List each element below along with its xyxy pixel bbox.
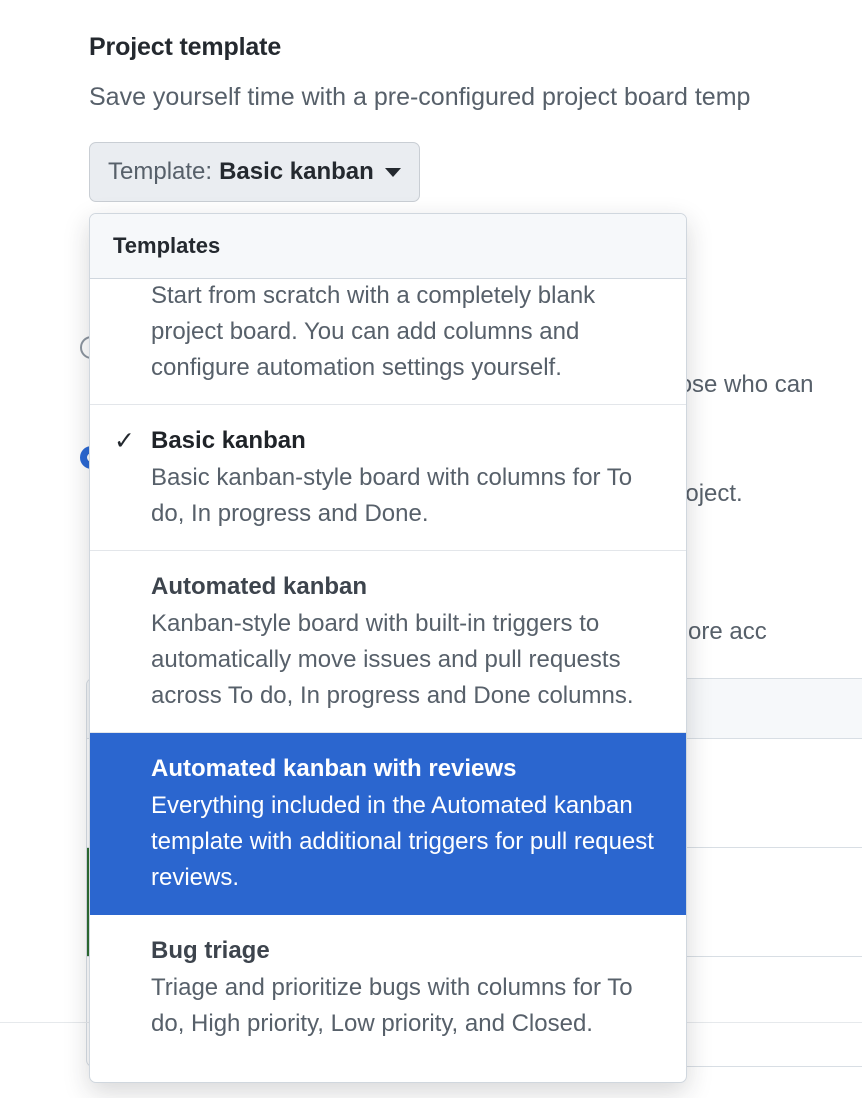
screen-root: Project template Save yourself time with… xyxy=(0,0,862,1098)
page-title: Project template xyxy=(89,33,281,62)
menu-list[interactable]: None Start from scratch with a completel… xyxy=(90,279,686,1082)
menu-item-bug-triage[interactable]: Bug triage Triage and prioritize bugs wi… xyxy=(90,915,686,1060)
template-select-button[interactable]: Template: Basic kanban xyxy=(89,142,420,202)
menu-header-title: Templates xyxy=(113,233,220,259)
page-subtitle: Save yourself time with a pre-configured… xyxy=(89,83,750,112)
template-button-prefix: Template: xyxy=(108,158,212,186)
templates-dropdown-menu: Templates None Start from scratch with a… xyxy=(89,213,687,1083)
menu-item-body: None Start from scratch with a completel… xyxy=(151,279,662,386)
template-button-value: Basic kanban xyxy=(219,158,374,186)
menu-item-body: Basic kanban Basic kanban-style board wi… xyxy=(151,422,662,532)
menu-item-body: Automated kanban with reviews Everything… xyxy=(151,750,662,896)
check-icon: ✓ xyxy=(114,422,151,460)
menu-item-title: Basic kanban xyxy=(151,422,662,460)
menu-item-description: Start from scratch with a completely bla… xyxy=(151,279,662,386)
menu-item-body: Bug triage Triage and prioritize bugs wi… xyxy=(151,932,662,1042)
menu-header: Templates xyxy=(90,214,686,279)
menu-item-title: Automated kanban with reviews xyxy=(151,750,662,788)
menu-item-description: Basic kanban-style board with columns fo… xyxy=(151,460,662,532)
menu-item-none[interactable]: None Start from scratch with a completel… xyxy=(90,279,686,405)
menu-item-description: Triage and prioritize bugs with columns … xyxy=(151,970,662,1042)
menu-item-automated-kanban[interactable]: Automated kanban Kanban-style board with… xyxy=(90,551,686,733)
menu-item-basic-kanban[interactable]: ✓ Basic kanban Basic kanban-style board … xyxy=(90,405,686,551)
menu-item-title: Automated kanban xyxy=(151,568,662,606)
menu-scroll-container: None Start from scratch with a completel… xyxy=(90,279,686,1060)
menu-item-description: Everything included in the Automated kan… xyxy=(151,788,662,896)
menu-item-body: Automated kanban Kanban-style board with… xyxy=(151,568,662,714)
menu-item-description: Kanban-style board with built-in trigger… xyxy=(151,606,662,714)
menu-item-automated-kanban-with-reviews[interactable]: Automated kanban with reviews Everything… xyxy=(90,733,686,915)
chevron-down-icon xyxy=(385,168,401,177)
menu-item-title: Bug triage xyxy=(151,932,662,970)
